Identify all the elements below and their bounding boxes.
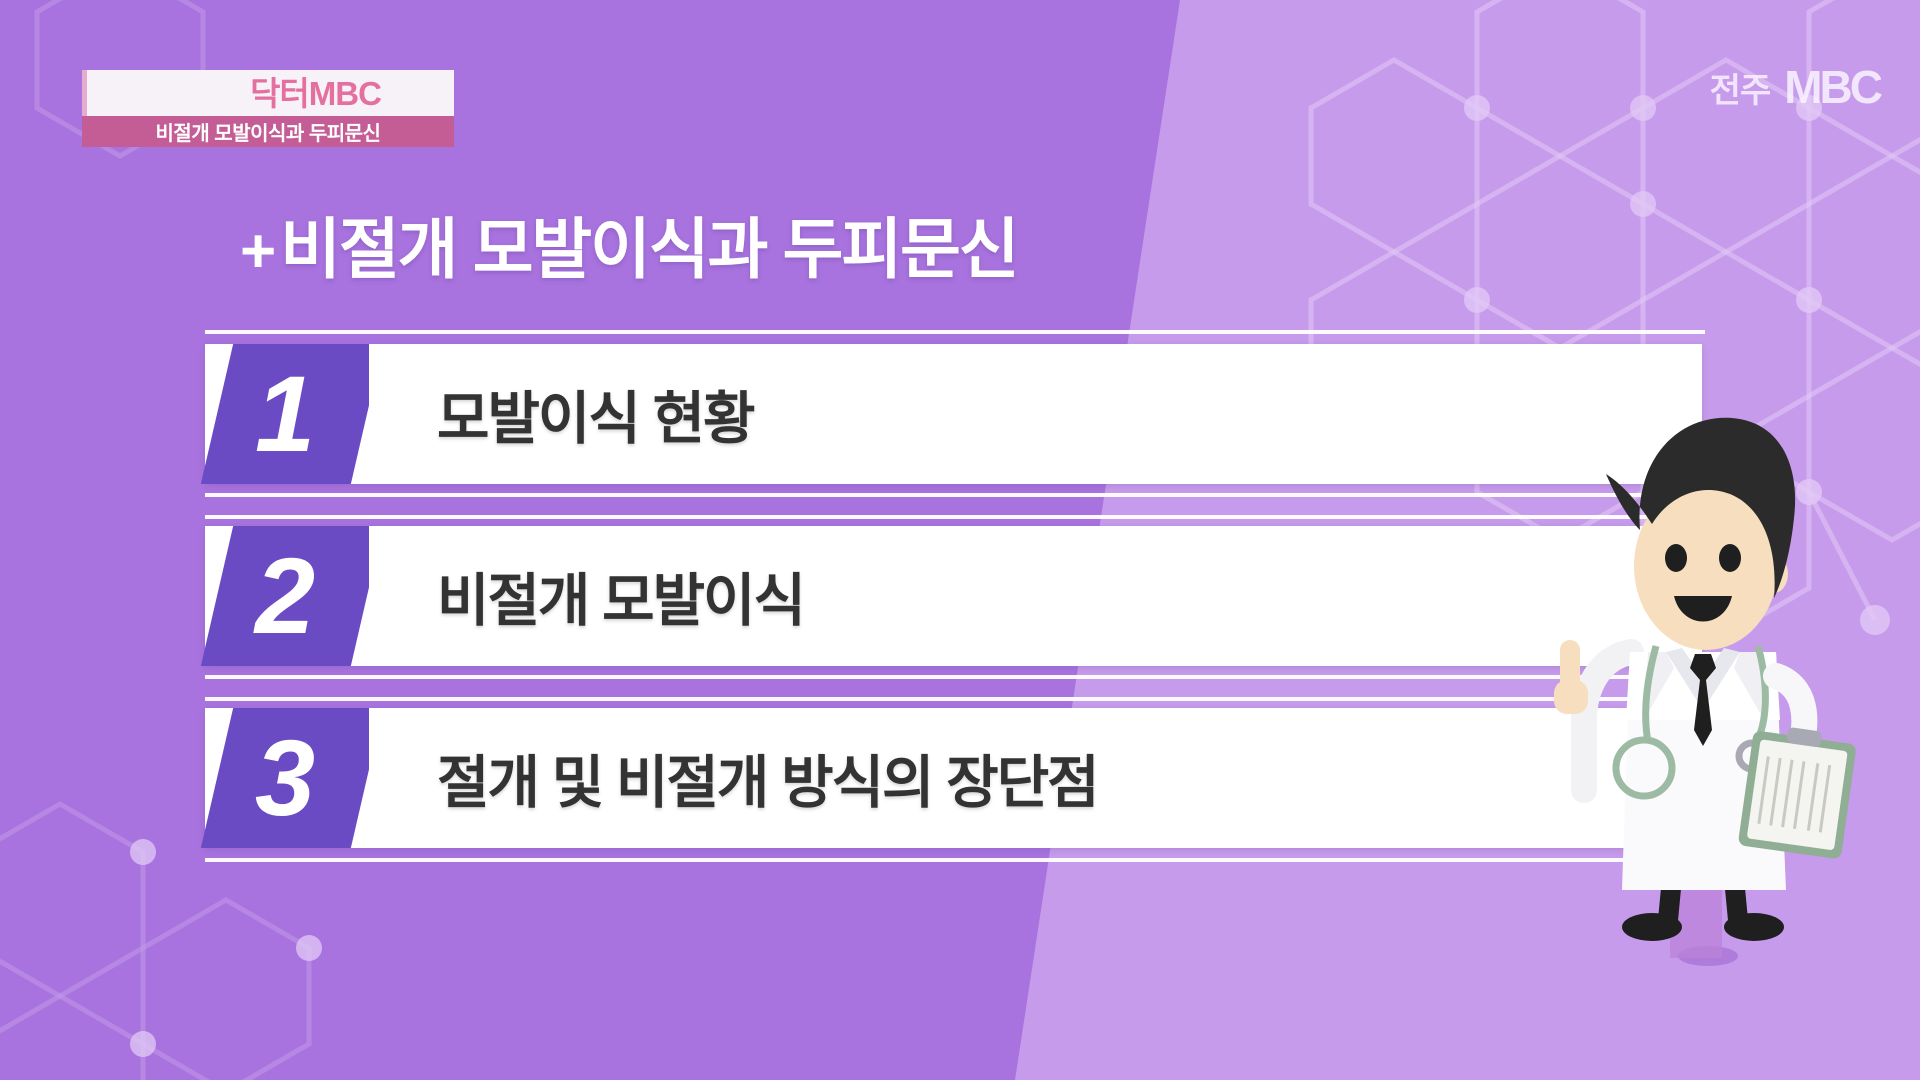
list-item-plate xyxy=(205,526,1702,666)
list-item-number: 2 xyxy=(199,526,369,666)
list-item-number-badge: 3 xyxy=(199,708,369,848)
broadcast-title-card: 닥터MBC 비절개 모발이식과 두피문신 전주 MBC + 비절개 모발이식과 … xyxy=(0,0,1920,1080)
list-item-number-badge: 1 xyxy=(199,344,369,484)
separator-line-bottom xyxy=(205,697,1705,701)
program-logo-title-bar: 닥터MBC xyxy=(82,70,454,116)
list-item[interactable]: 2 비절개 모발이식 xyxy=(205,526,1705,666)
separator-line-bottom xyxy=(205,515,1705,519)
station-watermark: 전주 MBC xyxy=(1710,60,1880,114)
list-item-number: 3 xyxy=(199,708,369,848)
station-logo-mbc: MBC xyxy=(1784,60,1880,114)
separator-line-top xyxy=(205,493,1705,497)
list-separator xyxy=(205,484,1705,526)
program-logo-subtitle-bar: 비절개 모발이식과 두피문신 xyxy=(82,116,454,147)
program-logo-title: 닥터MBC xyxy=(160,77,381,110)
list-item-label: 비절개 모발이식 xyxy=(437,526,804,666)
list-item[interactable]: 3 절개 및 비절개 방식의 장단점 xyxy=(205,708,1705,848)
list-item-label: 절개 및 비절개 방식의 장단점 xyxy=(437,708,1098,848)
agenda-list: 1 모발이식 현황 2 비절개 모발이식 3 절개 및 xyxy=(205,344,1705,878)
list-item-number: 1 xyxy=(199,344,369,484)
separator-line-top xyxy=(205,675,1705,679)
doctor-mascot-illustration xyxy=(1548,390,1878,1010)
separator-line-bottom xyxy=(205,858,1705,862)
list-bottom-rule xyxy=(205,848,1705,878)
list-separator xyxy=(205,666,1705,708)
title-underline xyxy=(205,330,1705,334)
list-item[interactable]: 1 모발이식 현황 xyxy=(205,344,1705,484)
list-item-label: 모발이식 현황 xyxy=(437,344,753,484)
plus-icon: + xyxy=(240,221,276,283)
page-title: + 비절개 모발이식과 두피문신 xyxy=(240,216,1018,283)
page-title-text: 비절개 모발이식과 두피문신 xyxy=(280,216,1017,282)
list-item-number-badge: 2 xyxy=(199,526,369,666)
program-logo: 닥터MBC 비절개 모발이식과 두피문신 xyxy=(82,70,454,147)
program-logo-subtitle: 비절개 모발이식과 두피문신 xyxy=(156,117,381,146)
station-name-korean: 전주 xyxy=(1710,63,1771,112)
list-item-plate xyxy=(205,344,1702,484)
